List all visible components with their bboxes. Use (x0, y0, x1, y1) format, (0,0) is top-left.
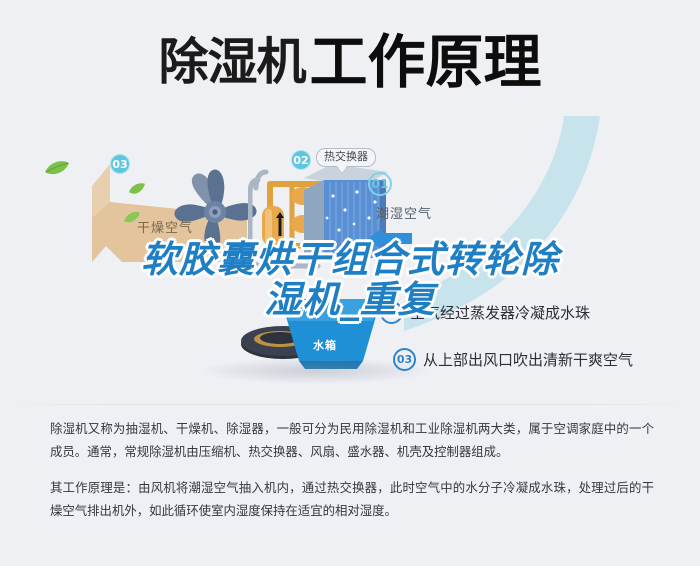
body-copy: 除湿机又称为抽湿机、干燥机、除湿器，一般可分为民用除湿机和工业除湿机两大类，属于… (50, 418, 654, 523)
humid-air-label: 潮湿空气 (376, 203, 432, 222)
leaf-icon (128, 182, 146, 196)
step-line-03: 03 从上部出风口吹出清新干爽空气 (393, 348, 633, 371)
working-principle-diagram: 水箱 03 02 01 热交换器 干燥空气 潮湿空气 02 空气经过蒸发器冷凝成… (0, 110, 700, 400)
infographic-page: 除湿机 工作原理 (0, 0, 700, 566)
airflow-swoosh-graphic (404, 116, 700, 366)
step-line-02: 02 空气经过蒸发器冷凝成水珠 (380, 301, 590, 324)
body-paragraph-2: 其工作原理是：由风机将潮湿空气抽入机内，通过热交换器，此时空气中的水分子冷凝成水… (50, 477, 654, 523)
air-inlet-arrow-icon (368, 228, 412, 250)
badge-03: 03 (110, 154, 130, 174)
page-title: 除湿机 工作原理 (0, 26, 700, 98)
heat-exchanger-callout: 热交换器 (316, 148, 376, 167)
page-title-part1: 除湿机 (158, 37, 305, 87)
step-badge-03: 03 (393, 348, 416, 371)
step-text-03: 从上部出风口吹出清新干爽空气 (423, 349, 633, 370)
step-text-02: 空气经过蒸发器冷凝成水珠 (410, 302, 590, 323)
page-title-part2: 工作原理 (309, 33, 541, 91)
water-tank-label: 水箱 (313, 337, 337, 353)
step-badge-02: 02 (380, 301, 403, 324)
leaf-icon (44, 160, 70, 176)
dry-air-label: 干燥空气 (137, 217, 193, 236)
section-divider (0, 404, 700, 405)
body-paragraph-1: 除湿机又称为抽湿机、干燥机、除湿器，一般可分为民用除湿机和工业除湿机两大类，属于… (50, 418, 654, 464)
badge-01: 01 (368, 172, 392, 196)
badge-02: 02 (291, 150, 311, 170)
